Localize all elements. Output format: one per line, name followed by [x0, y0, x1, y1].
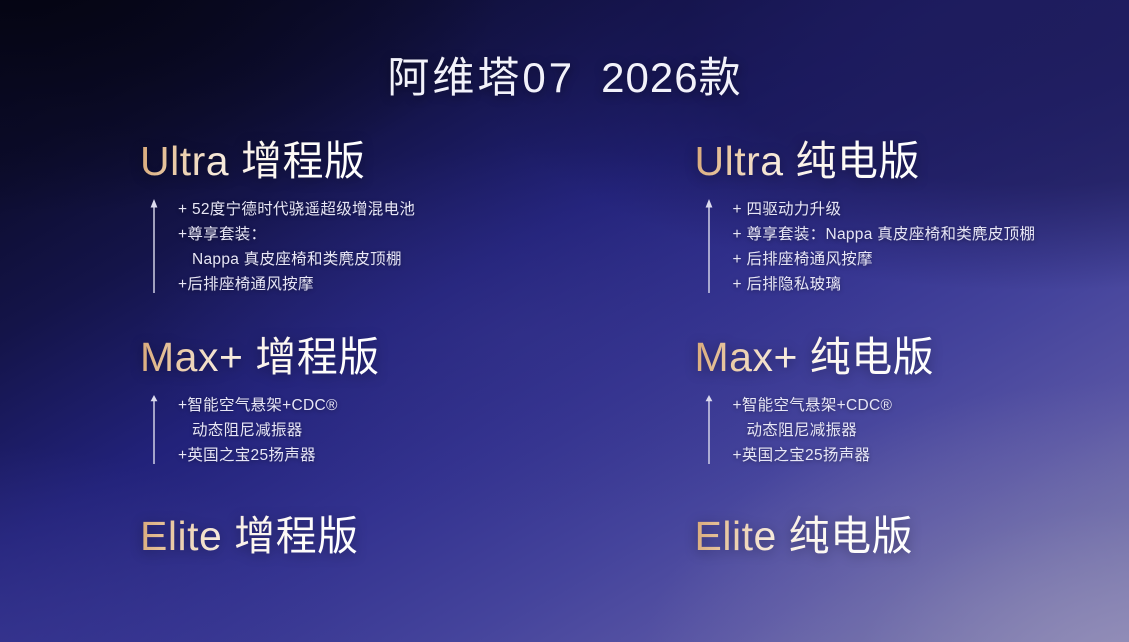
feature-item: +英国之宝25扬声器: [178, 443, 565, 468]
feature-item: +尊享套装：: [178, 222, 565, 247]
feature-list: +智能空气悬架+CDC® 动态阻尼减振器 +英国之宝25扬声器: [178, 393, 565, 468]
feature-list: + 52度宁德时代骁遥超级增混电池 +尊享套装： Nappa 真皮座椅和类麂皮顶…: [178, 197, 565, 297]
tier-ultra-range-extender: Ultra 增程版 + 52度宁德时代骁遥超级增混电池 +尊享套装： Nappa…: [0, 140, 565, 297]
feature-item: 动态阻尼减振器: [178, 418, 565, 443]
title-year: 2026款: [601, 54, 741, 101]
feature-item: + 52度宁德时代骁遥超级增混电池: [178, 197, 565, 222]
feature-item: 动态阻尼减振器: [733, 418, 1129, 443]
feature-item: + 后排隐私玻璃: [733, 272, 1129, 297]
column-battery-electric: Ultra 纯电版 + 四驱动力升级 + 尊享套装：Nappa 真皮座椅和类麂皮…: [565, 140, 1129, 610]
upgrade-arrow-icon: [703, 199, 715, 293]
feature-block: +智能空气悬架+CDC® 动态阻尼减振器 +英国之宝25扬声器: [140, 393, 565, 468]
feature-item: +后排座椅通风按摩: [178, 272, 565, 297]
tier-heading: Elite 纯电版: [695, 515, 914, 558]
tier-heading: Ultra 增程版: [140, 140, 365, 183]
feature-list: + 四驱动力升级 + 尊享套装：Nappa 真皮座椅和类麂皮顶棚 + 后排座椅通…: [733, 197, 1129, 297]
feature-item: + 后排座椅通风按摩: [733, 247, 1129, 272]
title-model: 阿维塔07: [387, 54, 575, 101]
feature-item: +英国之宝25扬声器: [733, 443, 1129, 468]
tier-heading: Elite 增程版: [140, 515, 359, 558]
tier-heading: Max+ 纯电版: [695, 336, 935, 379]
tier-max-plus-battery-electric: Max+ 纯电版 +智能空气悬架+CDC® 动态阻尼减振器 +英国之宝25扬声器: [565, 336, 1129, 468]
feature-block: + 四驱动力升级 + 尊享套装：Nappa 真皮座椅和类麂皮顶棚 + 后排座椅通…: [695, 197, 1129, 297]
page-title: 阿维塔072026款: [0, 44, 1129, 105]
tier-ultra-battery-electric: Ultra 纯电版 + 四驱动力升级 + 尊享套装：Nappa 真皮座椅和类麂皮…: [565, 140, 1129, 297]
feature-item: +智能空气悬架+CDC®: [733, 393, 1129, 418]
trim-columns: Ultra 增程版 + 52度宁德时代骁遥超级增混电池 +尊享套装： Nappa…: [0, 140, 1129, 610]
upgrade-arrow-icon: [703, 395, 715, 464]
feature-block: +智能空气悬架+CDC® 动态阻尼减振器 +英国之宝25扬声器: [695, 393, 1129, 468]
tier-max-plus-range-extender: Max+ 增程版 +智能空气悬架+CDC® 动态阻尼减振器 +英国之宝25扬声器: [0, 336, 565, 468]
feature-item: + 四驱动力升级: [733, 197, 1129, 222]
feature-item: +智能空气悬架+CDC®: [178, 393, 565, 418]
column-range-extender: Ultra 增程版 + 52度宁德时代骁遥超级增混电池 +尊享套装： Nappa…: [0, 140, 565, 610]
feature-block: + 52度宁德时代骁遥超级增混电池 +尊享套装： Nappa 真皮座椅和类麂皮顶…: [140, 197, 565, 297]
feature-list: +智能空气悬架+CDC® 动态阻尼减振器 +英国之宝25扬声器: [733, 393, 1129, 468]
tier-elite-battery-electric: Elite 纯电版: [565, 515, 1129, 558]
tier-heading: Max+ 增程版: [140, 336, 380, 379]
upgrade-arrow-icon: [148, 395, 160, 464]
feature-item: Nappa 真皮座椅和类麂皮顶棚: [178, 247, 565, 272]
upgrade-arrow-icon: [148, 199, 160, 293]
tier-heading: Ultra 纯电版: [695, 140, 920, 183]
tier-elite-range-extender: Elite 增程版: [0, 515, 565, 558]
feature-item: + 尊享套装：Nappa 真皮座椅和类麂皮顶棚: [733, 222, 1129, 247]
slide-canvas: 阿维塔072026款 Ultra 增程版 + 52度宁: [0, 0, 1129, 642]
